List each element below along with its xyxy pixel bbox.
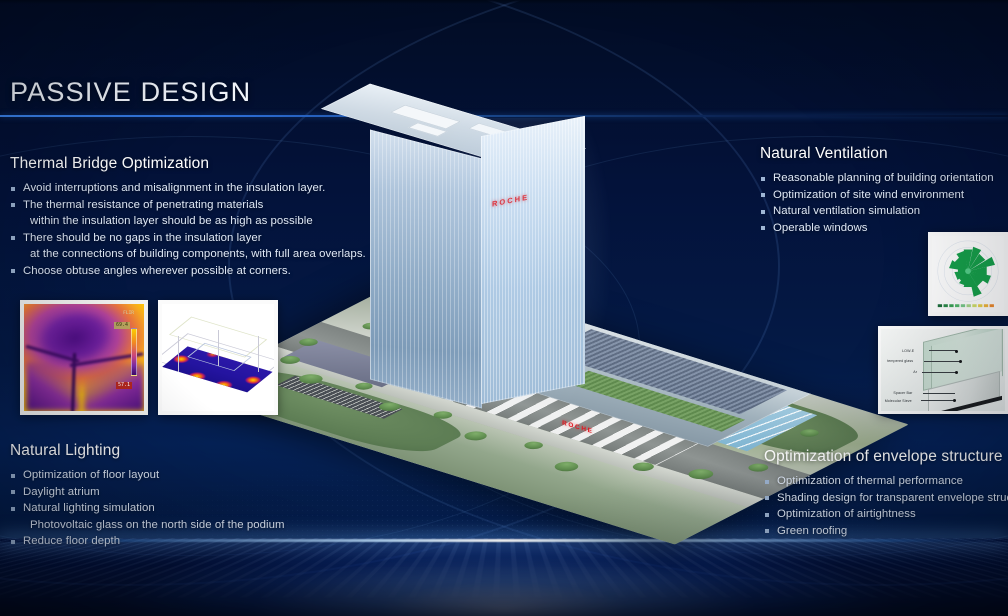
thermal-scale-min: 57.1 <box>116 382 132 389</box>
bullet-icon <box>11 490 15 494</box>
list-item: Optimization of airtightness <box>764 506 1008 523</box>
list-item: Natural ventilation simulation <box>760 203 1008 220</box>
leader-line <box>929 350 956 351</box>
list-item-label: Reasonable planning of building orientat… <box>773 172 994 184</box>
thermal-camera-image: FLIR 69.4 57.1 <box>20 300 148 415</box>
glazing-section-image: LOW-E tempered glass Ar Spacer Bar Molec… <box>878 326 1008 414</box>
list-item: Reasonable planning of building orientat… <box>760 170 1008 187</box>
section-natural-ventilation: Natural Ventilation Reasonable planning … <box>760 145 1008 236</box>
tower-facade-right <box>481 116 585 404</box>
list-item-label: Shading design for transparent envelope … <box>777 492 1008 504</box>
tower-facade-left <box>370 130 482 409</box>
bullet-icon <box>761 177 765 181</box>
list-item: Shading design for transparent envelope … <box>764 490 1008 507</box>
wireframe-post <box>258 336 259 372</box>
list-item-label: The thermal resistance of penetrating ma… <box>23 199 263 211</box>
list-item-label: at the connections of building component… <box>30 248 366 260</box>
bullet-icon <box>11 474 15 478</box>
bullet-list: Avoid interruptions and misalignment in … <box>10 180 370 280</box>
list-item-label: Avoid interruptions and misalignment in … <box>23 182 325 194</box>
bullet-icon <box>765 496 769 500</box>
section-heading: Natural Ventilation <box>760 145 1008 163</box>
leader-line <box>924 361 960 362</box>
flir-watermark: FLIR <box>121 310 136 317</box>
simulation-inner <box>162 304 274 411</box>
list-item: Avoid interruptions and misalignment in … <box>10 180 370 197</box>
list-item-label: Optimization of site wind environment <box>773 189 964 201</box>
wind-rose-chart <box>932 236 1004 312</box>
bullet-icon <box>765 513 769 517</box>
tower: ROCHE ROCHE <box>364 108 604 438</box>
leader-line <box>923 393 955 394</box>
list-item-label: Optimization of floor layout <box>23 469 159 481</box>
wind-rose-legend <box>938 304 994 307</box>
list-item-continuation: within the insulation layer should be as… <box>10 213 370 230</box>
section-heading: Thermal Bridge Optimization <box>10 155 370 173</box>
bullet-icon <box>761 226 765 230</box>
bullet-list: Optimization of floor layout Daylight at… <box>10 467 350 550</box>
list-item-label: Daylight atrium <box>23 486 100 498</box>
podium-logo: ROCHE <box>562 420 594 436</box>
glazing-label-tempered: tempered glass <box>887 359 913 364</box>
bullet-icon <box>765 480 769 484</box>
wind-rose-center <box>965 268 971 274</box>
list-item-continuation: Photovoltaic glass on the north side of … <box>10 517 350 534</box>
slide-canvas: PASSIVE DESIGN <box>0 0 1008 616</box>
thermal-color-scale <box>131 328 137 376</box>
list-item-label: Reduce floor depth <box>23 535 120 547</box>
list-item-label: Operable windows <box>773 222 868 234</box>
section-envelope-structure: Optimization of envelope structure Optim… <box>764 448 1008 539</box>
section-thermal-bridge: Thermal Bridge Optimization Avoid interr… <box>10 155 370 280</box>
glazing-label-spacer: Spacer Bar <box>893 391 912 396</box>
list-item: Optimization of floor layout <box>10 467 350 484</box>
list-item: Optimization of site wind environment <box>760 187 1008 204</box>
list-item: Choose obtuse angles wherever possible a… <box>10 263 370 280</box>
thermal-scale-max: 69.4 <box>114 322 130 329</box>
list-item-continuation: at the connections of building component… <box>10 246 370 263</box>
list-item-label: Choose obtuse angles wherever possible a… <box>23 265 291 277</box>
page-title: PASSIVE DESIGN <box>10 77 251 108</box>
wind-rose-image <box>928 232 1008 316</box>
list-item-label: Green roofing <box>777 525 847 537</box>
list-item: Reduce floor depth <box>10 533 350 550</box>
list-item-label: Optimization of thermal performance <box>777 475 963 487</box>
leader-line <box>922 372 957 373</box>
list-item: Optimization of thermal performance <box>764 473 1008 490</box>
bullet-icon <box>761 193 765 197</box>
bullet-icon <box>11 187 15 191</box>
bullet-icon <box>765 529 769 533</box>
thermal-image-inner: FLIR 69.4 57.1 <box>24 304 144 411</box>
section-heading: Optimization of envelope structure <box>764 448 1008 466</box>
list-item: Natural lighting simulation <box>10 500 350 517</box>
wireframe-post <box>178 336 179 372</box>
glazing-label-lowe: LOW-E <box>902 349 914 354</box>
bullet-icon <box>11 540 15 544</box>
list-item: The thermal resistance of penetrating ma… <box>10 197 370 214</box>
list-item: Green roofing <box>764 523 1008 540</box>
list-item: There should be no gaps in the insulatio… <box>10 230 370 247</box>
bullet-list: Optimization of thermal performance Shad… <box>764 473 1008 539</box>
list-item-label: Photovoltaic glass on the north side of … <box>30 519 285 531</box>
wind-rose-petals <box>949 247 995 297</box>
glazing-inner: LOW-E tempered glass Ar Spacer Bar Molec… <box>881 329 1005 411</box>
thermal-simulation-image <box>158 300 278 415</box>
bullet-icon <box>761 210 765 214</box>
list-item-label: Natural ventilation simulation <box>773 205 920 217</box>
bullet-icon <box>11 236 15 240</box>
bullet-icon <box>11 269 15 273</box>
wind-rose-inner <box>932 236 1004 312</box>
list-item-label: Natural lighting simulation <box>23 502 155 514</box>
glazing-label-sieve: Molecular Sieve <box>885 399 912 404</box>
wireframe-post <box>218 330 219 366</box>
section-natural-lighting: Natural Lighting Optimization of floor l… <box>10 442 350 550</box>
glazing-label-argon: Ar <box>913 370 917 375</box>
leader-dot <box>953 399 956 402</box>
list-item: Daylight atrium <box>10 484 350 501</box>
leader-line <box>921 400 954 401</box>
section-heading: Natural Lighting <box>10 442 350 460</box>
bullet-list: Reasonable planning of building orientat… <box>760 170 1008 236</box>
background-top-edge <box>0 0 1008 4</box>
list-item-label: within the insulation layer should be as… <box>30 215 313 227</box>
list-item-label: Optimization of airtightness <box>777 508 916 520</box>
bullet-icon <box>11 203 15 207</box>
list-item-label: There should be no gaps in the insulatio… <box>23 232 262 244</box>
bullet-icon <box>11 507 15 511</box>
